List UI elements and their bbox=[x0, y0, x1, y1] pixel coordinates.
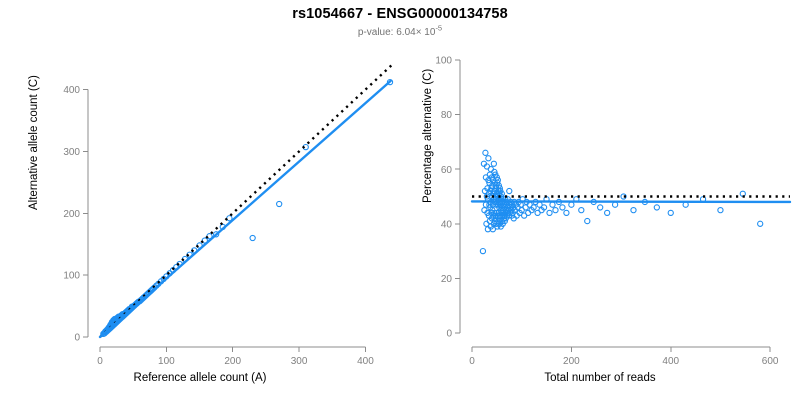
x-tick-label: 600 bbox=[762, 356, 779, 367]
x-tick-label: 0 bbox=[97, 356, 103, 367]
right-plot-canvas: 0204060801000200400600 bbox=[400, 0, 800, 400]
right-scatter-panel: 0204060801000200400600 Total number of r… bbox=[400, 0, 800, 400]
data-point bbox=[547, 210, 552, 215]
data-point bbox=[718, 208, 723, 213]
data-point bbox=[758, 221, 763, 226]
y-tick-label: 300 bbox=[63, 147, 80, 158]
data-point bbox=[654, 205, 659, 210]
data-point bbox=[585, 218, 590, 223]
y-tick-label: 100 bbox=[435, 56, 452, 67]
data-point bbox=[569, 202, 574, 207]
left-y-axis-label: Alternative allele count (C) bbox=[28, 75, 40, 210]
fit-line bbox=[472, 201, 790, 202]
x-tick-label: 200 bbox=[224, 356, 241, 367]
y-tick-label: 0 bbox=[74, 333, 80, 344]
y-tick-label: 40 bbox=[441, 219, 453, 230]
right-x-axis-label: Total number of reads bbox=[400, 372, 800, 384]
x-tick-label: 400 bbox=[357, 356, 374, 367]
data-point bbox=[277, 201, 282, 206]
data-point bbox=[550, 202, 555, 207]
data-point bbox=[526, 210, 531, 215]
identity-line bbox=[100, 65, 392, 337]
fit-line bbox=[100, 81, 391, 337]
data-point bbox=[483, 150, 488, 155]
data-point bbox=[560, 205, 565, 210]
data-point bbox=[486, 156, 491, 161]
data-point bbox=[553, 208, 558, 213]
data-point bbox=[605, 210, 610, 215]
y-tick-label: 60 bbox=[441, 165, 453, 176]
x-tick-label: 200 bbox=[563, 356, 580, 367]
data-point bbox=[579, 208, 584, 213]
data-point bbox=[631, 208, 636, 213]
y-tick-label: 20 bbox=[441, 274, 453, 285]
y-tick-label: 0 bbox=[446, 329, 452, 340]
left-plot-canvas: 01002003004000100200300400 bbox=[0, 0, 400, 400]
data-point bbox=[488, 167, 493, 172]
y-tick-label: 100 bbox=[63, 271, 80, 282]
ase-figure: rs1054667 - ENSG00000134758 p-value: 6.0… bbox=[0, 0, 800, 400]
right-y-axis-label: Percentage alternative (C) bbox=[422, 68, 434, 202]
data-point bbox=[613, 202, 618, 207]
x-tick-label: 0 bbox=[469, 356, 475, 367]
y-tick-label: 80 bbox=[441, 110, 453, 121]
data-point bbox=[598, 205, 603, 210]
data-point bbox=[250, 235, 255, 240]
y-tick-label: 400 bbox=[63, 85, 80, 96]
data-point bbox=[480, 249, 485, 254]
data-point bbox=[668, 210, 673, 215]
data-point bbox=[564, 210, 569, 215]
x-tick-label: 300 bbox=[291, 356, 308, 367]
x-tick-label: 400 bbox=[662, 356, 679, 367]
left-x-axis-label: Reference allele count (A) bbox=[0, 372, 400, 384]
x-tick-label: 100 bbox=[158, 356, 175, 367]
left-scatter-panel: 01002003004000100200300400 Reference all… bbox=[0, 0, 400, 400]
data-point bbox=[507, 188, 512, 193]
data-point bbox=[491, 161, 496, 166]
y-tick-label: 200 bbox=[63, 209, 80, 220]
